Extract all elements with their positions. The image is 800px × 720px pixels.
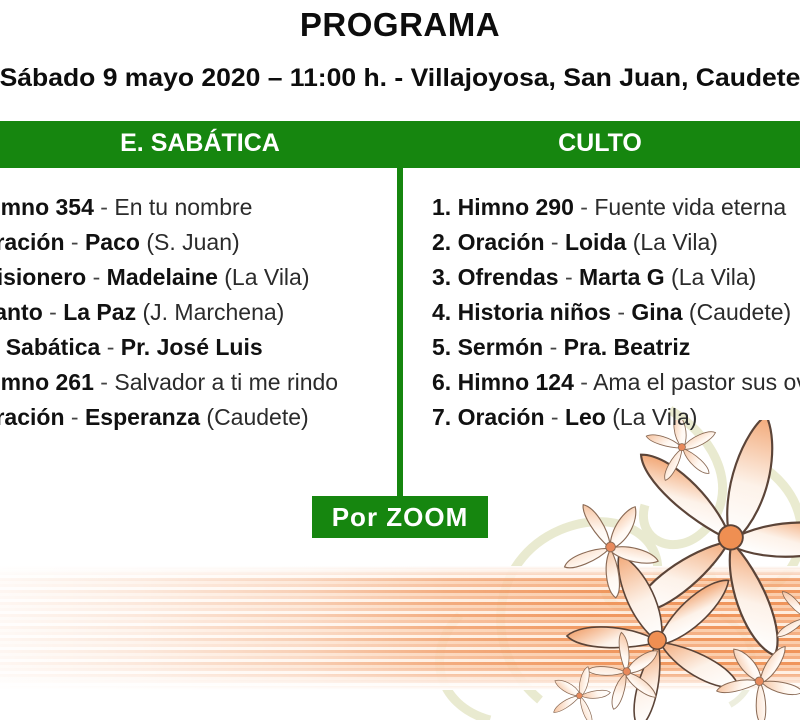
- program-item: 7. Oración - Esperanza (Caudete): [0, 400, 422, 435]
- program-item-dash: -: [550, 334, 564, 360]
- column-heading-sabatica: E. SABÁTICA: [0, 129, 400, 158]
- program-item-person: Pr. José Luis: [121, 334, 263, 360]
- program-item-number: 2.: [432, 229, 458, 255]
- program-slide: PROGRAMA Sábado 9 mayo 2020 – 11:00 h. -…: [0, 0, 800, 720]
- program-item-dash: -: [93, 264, 107, 290]
- program-item-activity: Himno 290: [458, 194, 581, 220]
- program-item-person: Loida: [565, 229, 633, 255]
- program-item-number: 1.: [432, 194, 458, 220]
- program-item-detail: (La Vila): [612, 404, 697, 430]
- program-item-detail: En tu nombre: [114, 194, 252, 220]
- program-item-dash: -: [100, 194, 114, 220]
- program-item: 3. Ofrendas - Marta G (La Vila): [432, 260, 800, 295]
- program-item-detail: Ama el pastor sus ovejas: [593, 369, 800, 395]
- program-item-activity: Misionero: [0, 264, 93, 290]
- program-item-activity: Historia niños: [458, 299, 618, 325]
- program-item-number: 6.: [432, 369, 458, 395]
- program-item: 1. Himno 290 - Fuente vida eterna: [432, 190, 800, 225]
- program-item-dash: -: [551, 229, 565, 255]
- program-item-detail: Fuente vida eterna: [594, 194, 786, 220]
- program-item-detail: (Caudete): [206, 404, 308, 430]
- program-item-person: Paco: [85, 229, 146, 255]
- program-item-activity: E. Sabática: [0, 334, 107, 360]
- program-item: 2. Oración - Loida (La Vila): [432, 225, 800, 260]
- program-item: 5. Sermón - Pra. Beatriz: [432, 330, 800, 365]
- program-item-activity: Oración: [458, 404, 551, 430]
- program-item-number: 7.: [432, 404, 458, 430]
- program-item-activity: Himno 124: [458, 369, 581, 395]
- program-item-person: Pra. Beatriz: [564, 334, 691, 360]
- program-item: 3. Misionero - Madelaine (La Vila): [0, 260, 422, 295]
- program-item-dash: -: [100, 369, 114, 395]
- program-item-detail: (La Vila): [671, 264, 756, 290]
- program-item: 6. Himno 124 - Ama el pastor sus ovejas: [432, 365, 800, 400]
- program-item-person: La Paz: [63, 299, 142, 325]
- program-item-detail: Salvador a ti me rindo: [114, 369, 338, 395]
- program-item: 4. Historia niños - Gina (Caudete): [432, 295, 800, 330]
- program-item-number: 3.: [432, 264, 458, 290]
- program-item: 7. Oración - Leo (La Vila): [432, 400, 800, 435]
- program-item-activity: Himno 261: [0, 369, 100, 395]
- program-item-detail: (La Vila): [633, 229, 718, 255]
- program-item-number: 4.: [432, 299, 458, 325]
- program-item-dash: -: [71, 229, 85, 255]
- program-item: 4. Canto - La Paz (J. Marchena): [0, 295, 422, 330]
- program-item: 2. Oración - Paco (S. Juan): [0, 225, 422, 260]
- program-item-activity: Canto: [0, 299, 49, 325]
- program-item-dash: -: [617, 299, 631, 325]
- program-item-dash: -: [551, 404, 565, 430]
- program-item-dash: -: [107, 334, 121, 360]
- program-item-activity: Sermón: [458, 334, 550, 360]
- program-item-detail: (La Vila): [224, 264, 309, 290]
- program-item-dash: -: [71, 404, 85, 430]
- bottom-stripe-band: [0, 566, 800, 690]
- stripe-top-fade: [0, 566, 800, 582]
- page-title: PROGRAMA: [0, 6, 800, 44]
- stripe-bottom-fade: [0, 668, 800, 690]
- program-item-detail: (S. Juan): [146, 229, 239, 255]
- program-item-detail: (Caudete): [689, 299, 791, 325]
- program-item-number: 5.: [432, 334, 458, 360]
- program-item-detail: (J. Marchena): [142, 299, 284, 325]
- program-item-activity: Ofrendas: [458, 264, 565, 290]
- program-item: 5. E. Sabática - Pr. José Luis: [0, 330, 422, 365]
- por-zoom-label: Por ZOOM: [332, 502, 469, 533]
- por-zoom-badge: Por ZOOM: [312, 496, 488, 538]
- program-item-person: Gina: [631, 299, 689, 325]
- program-item: 6. Himno 261 - Salvador a ti me rindo: [0, 365, 422, 400]
- program-item-person: Marta G: [579, 264, 671, 290]
- program-item-activity: Himno 354: [0, 194, 100, 220]
- column-heading-culto: CULTO: [400, 129, 800, 158]
- program-item-dash: -: [565, 264, 579, 290]
- program-item-person: Madelaine: [107, 264, 225, 290]
- program-item-activity: Oración: [458, 229, 551, 255]
- program-item-dash: -: [580, 194, 594, 220]
- program-item-dash: -: [49, 299, 63, 325]
- program-list-culto: 1. Himno 290 - Fuente vida eterna2. Orac…: [432, 190, 800, 435]
- page-subtitle: Sábado 9 mayo 2020 – 11:00 h. - Villajoy…: [0, 64, 800, 93]
- program-item-activity: Oración: [0, 229, 71, 255]
- program-item: 1. Himno 354 - En tu nombre: [0, 190, 422, 225]
- program-item-activity: Oración: [0, 404, 71, 430]
- program-list-sabatica: 1. Himno 354 - En tu nombre2. Oración - …: [0, 190, 422, 435]
- program-item-person: Leo: [565, 404, 612, 430]
- program-item-dash: -: [580, 369, 593, 395]
- program-item-person: Esperanza: [85, 404, 206, 430]
- column-header-band: E. SABÁTICA CULTO: [0, 121, 800, 168]
